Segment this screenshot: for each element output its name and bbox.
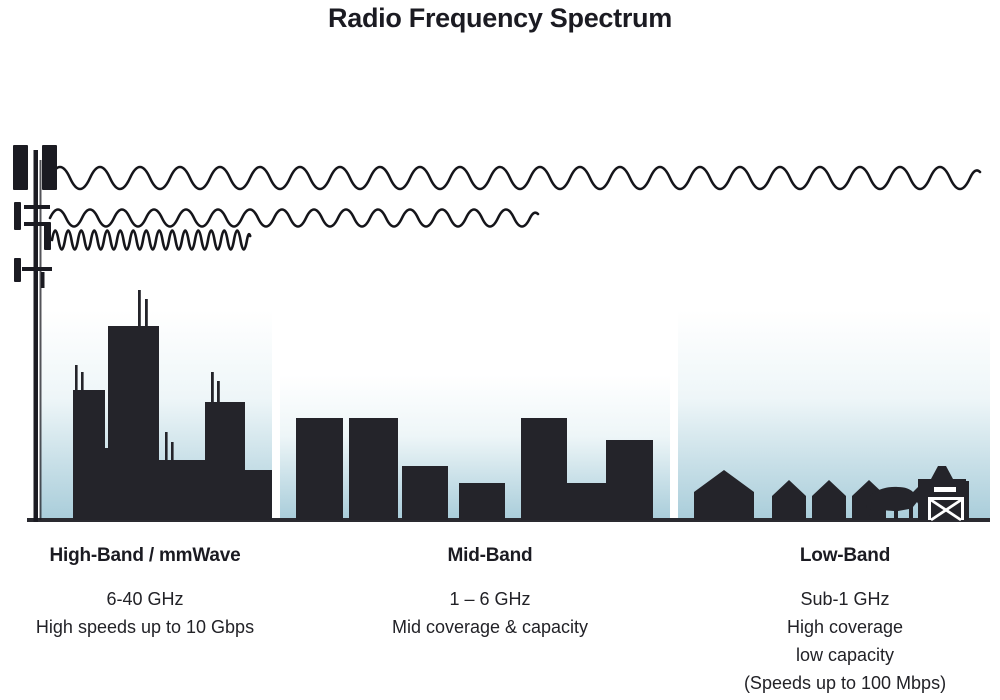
building-spire	[165, 432, 168, 460]
band-detail-low: Sub-1 GHz High coverage low capacity (Sp…	[700, 585, 990, 697]
building	[606, 440, 653, 520]
wave-long	[50, 167, 980, 189]
band-name-mid: Mid-Band	[345, 545, 635, 567]
band-name-high: High-Band / mmWave	[0, 545, 290, 567]
band-labels: High-Band / mmWave 6-40 GHz High speeds …	[0, 545, 1000, 700]
building	[459, 483, 505, 520]
band-frequency-high: 6-40 GHz	[0, 585, 290, 613]
band-speed-low: (Speeds up to 100 Mbps)	[700, 669, 990, 697]
wave-medium	[50, 210, 538, 227]
band-name-low: Low-Band	[700, 545, 990, 567]
building-spire	[171, 442, 174, 460]
building	[349, 418, 398, 520]
building	[205, 402, 245, 520]
building-spire	[138, 290, 141, 326]
radio-waves-group	[50, 167, 980, 250]
building	[245, 470, 272, 520]
building	[567, 483, 606, 520]
wave-short	[52, 231, 250, 250]
band-detail-high: 6-40 GHz High speeds up to 10 Gbps	[0, 585, 290, 641]
infographic-root: Radio Frequency Spectrum	[0, 0, 1000, 700]
band-detail-mid: 1 – 6 GHz Mid coverage & capacity	[345, 585, 635, 641]
building	[296, 418, 343, 520]
building-spire	[145, 299, 148, 326]
band-frequency-mid: 1 – 6 GHz	[345, 585, 635, 613]
band-speed-high: High speeds up to 10 Gbps	[0, 613, 290, 641]
band-block-mid: Mid-Band 1 – 6 GHz Mid coverage & capaci…	[345, 545, 635, 641]
building	[159, 460, 205, 520]
band-block-low: Low-Band Sub-1 GHz High coverage low cap…	[700, 545, 990, 697]
building	[73, 390, 105, 520]
band-block-high: High-Band / mmWave 6-40 GHz High speeds …	[0, 545, 290, 641]
band-frequency-low: Sub-1 GHz	[700, 585, 990, 613]
band-capacity-low: low capacity	[700, 641, 990, 669]
building	[108, 326, 159, 520]
band-speed-mid: Mid coverage & capacity	[345, 613, 635, 641]
building	[521, 418, 567, 520]
building	[402, 466, 448, 520]
barn-vent	[934, 487, 956, 492]
building-spire	[211, 372, 214, 406]
band-coverage-low: High coverage	[700, 613, 990, 641]
